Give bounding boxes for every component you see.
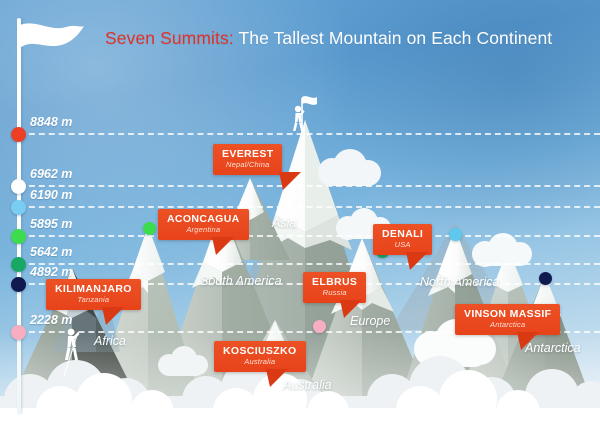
peak-dot-denali <box>449 228 462 241</box>
climber-with-rope-icon <box>58 322 98 378</box>
callout-country-denali: USA <box>382 241 423 249</box>
scale-label-vinson: 4892 m <box>30 265 72 279</box>
flag-icon <box>20 22 84 58</box>
callout-tail <box>266 369 288 387</box>
gridline-dashed <box>19 263 600 265</box>
gridline-dashed <box>19 235 600 237</box>
scale-label-aconcagua: 6962 m <box>30 167 72 181</box>
infographic-canvas: 8848 m 6962 m 6190 m 5895 m 5642 m 4892 … <box>0 0 600 424</box>
callout-name-denali: DENALI <box>382 229 423 240</box>
peak-dot-kosciuszko <box>313 320 326 333</box>
callout-country-vinson-massif: Antarctica <box>464 321 551 329</box>
callout-name-kosciuszko: KOSCIUSZKO <box>223 346 297 357</box>
peak-dot-vinson <box>539 272 552 285</box>
scale-dot-kosciuszko <box>11 325 26 340</box>
callout-country-elbrus: Russia <box>312 289 357 297</box>
callout-kilimanjaro[interactable]: KILIMANJARO Tanzania <box>46 279 141 310</box>
scale-label-elbrus: 5642 m <box>30 245 72 259</box>
callout-country-kilimanjaro: Tanzania <box>55 296 132 304</box>
gridline-dashed <box>19 206 600 208</box>
scale-dot-elbrus <box>11 257 26 272</box>
title-rest: The Tallest Mountain on Each Continent <box>234 28 552 48</box>
continent-label-asia: Asia <box>272 216 296 230</box>
continent-label-north-america: North America <box>420 275 490 289</box>
scale-dot-vinson <box>11 277 26 292</box>
callout-tail <box>406 252 428 270</box>
callout-tail <box>102 307 124 325</box>
scale-label-kilimanjaro: 5895 m <box>30 217 72 231</box>
callout-name-elbrus: ELBRUS <box>312 277 357 288</box>
callout-tail <box>517 332 539 350</box>
continent-label-australia: Australia <box>283 378 332 392</box>
callout-name-kilimanjaro: KILIMANJARO <box>55 284 132 295</box>
continent-label-africa: Africa <box>94 334 126 348</box>
page-title: Seven Summits: The Tallest Mountain on E… <box>105 28 552 49</box>
callout-tail <box>340 300 362 318</box>
scale-axis-pole <box>17 18 21 414</box>
climber-with-flag-icon <box>288 92 322 134</box>
callout-country-everest: Nepal/China <box>222 161 273 169</box>
callout-country-kosciuszko: Australia <box>223 358 297 366</box>
callout-elbrus[interactable]: ELBRUS Russia <box>303 272 366 303</box>
callout-name-everest: EVEREST <box>222 149 273 160</box>
title-accent: Seven Summits: <box>105 28 234 48</box>
cloud-icon <box>310 148 388 188</box>
scale-dot-aconcagua <box>11 179 26 194</box>
gridline-dashed <box>19 185 600 187</box>
callout-kosciuszko[interactable]: KOSCIUSZKO Australia <box>214 341 306 372</box>
scale-dot-everest <box>11 127 26 142</box>
callout-name-vinson-massif: VINSON MASSIF <box>464 309 551 320</box>
continent-label-south-america: South America <box>200 274 276 288</box>
scale-label-denali: 6190 m <box>30 188 72 202</box>
callout-everest[interactable]: EVEREST Nepal/China <box>213 144 282 175</box>
callout-tail <box>212 237 234 255</box>
scale-dot-denali <box>11 200 26 215</box>
callout-aconcagua[interactable]: ACONCAGUA Argentina <box>158 209 249 240</box>
scale-label-everest: 8848 m <box>30 115 72 129</box>
callout-denali[interactable]: DENALI USA <box>373 224 432 255</box>
callout-tail <box>279 172 301 190</box>
callout-country-aconcagua: Argentina <box>167 226 240 234</box>
peak-dot-kilimanjaro <box>143 222 156 235</box>
callout-name-aconcagua: ACONCAGUA <box>167 214 240 225</box>
scale-dot-kilimanjaro <box>11 229 26 244</box>
callout-vinson-massif[interactable]: VINSON MASSIF Antarctica <box>455 304 560 335</box>
